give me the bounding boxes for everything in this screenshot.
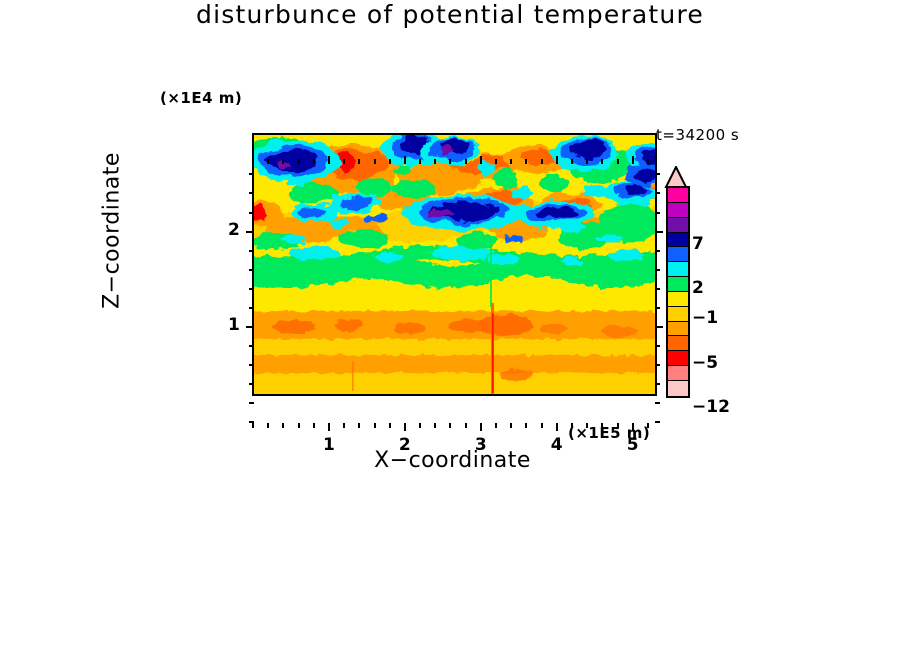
y-minor-tick: [249, 307, 254, 309]
y-minor-tick-right: [655, 269, 660, 271]
x-major-tick-top: [632, 156, 634, 164]
y-minor-tick: [249, 345, 254, 347]
y-minor-tick-right: [655, 192, 660, 194]
x-major-tick: [328, 423, 330, 431]
y-minor-tick: [249, 421, 254, 423]
x-minor-tick: [465, 423, 467, 428]
x-minor-tick-top: [389, 159, 391, 164]
x-major-tick-top: [404, 156, 406, 164]
colorbar-band-light-pink: [668, 381, 688, 396]
x-minor-tick-top: [252, 159, 254, 164]
colorbar-band-salmon: [668, 366, 688, 381]
y-minor-tick: [249, 364, 254, 366]
x-minor-tick: [541, 423, 543, 428]
y-major-tick-right: [655, 326, 663, 328]
y-minor-tick-right: [655, 345, 660, 347]
x-minor-tick-top: [267, 159, 269, 164]
y-minor-tick: [249, 173, 254, 175]
x-minor-tick-top: [449, 159, 451, 164]
x-minor-tick-top: [313, 159, 315, 164]
x-minor-tick-top: [358, 159, 360, 164]
y-minor-tick-right: [655, 307, 660, 309]
x-minor-tick: [267, 423, 269, 428]
y-minor-tick-right: [655, 402, 660, 404]
x-minor-tick-top: [298, 159, 300, 164]
x-axis-unit-label: (×1E5 m): [568, 424, 650, 442]
x-minor-tick-top: [541, 159, 543, 164]
colorbar-band-purple: [668, 218, 688, 233]
colorbar-band-orange: [668, 322, 688, 337]
colorbar-label-7: 7: [692, 234, 704, 254]
x-minor-tick-top: [586, 159, 588, 164]
y-minor-tick-right: [655, 288, 660, 290]
y-major-tick: [246, 326, 254, 328]
colorbar-label-2: 2: [692, 278, 704, 298]
y-tick-label-1: 1: [228, 315, 240, 335]
colorbar-label--1: −1: [692, 308, 718, 328]
timestamp-label: t=34200 s: [656, 126, 739, 144]
x-minor-tick: [434, 423, 436, 428]
y-minor-tick: [249, 192, 254, 194]
y-minor-tick-right: [655, 421, 660, 423]
x-minor-tick: [389, 423, 391, 428]
x-minor-tick: [510, 423, 512, 428]
x-minor-tick-top: [374, 159, 376, 164]
contour-plot-area: [252, 133, 657, 396]
x-minor-tick-top: [419, 159, 421, 164]
x-major-tick-top: [556, 156, 558, 164]
x-minor-tick: [525, 423, 527, 428]
y-minor-tick-right: [655, 364, 660, 366]
y-minor-tick: [249, 250, 254, 252]
colorbar-band-cyan: [668, 262, 688, 277]
colorbar-band-green: [668, 277, 688, 292]
y-minor-tick: [249, 402, 254, 404]
chart-title: disturbunce of potential temperature: [0, 0, 904, 29]
x-major-tick-top: [480, 156, 482, 164]
colorbar-label--5: −5: [692, 353, 718, 373]
y-minor-tick: [249, 269, 254, 271]
x-minor-tick: [343, 423, 345, 428]
colorbar-label--12: −12: [692, 397, 730, 417]
x-minor-tick-top: [282, 159, 284, 164]
x-major-tick: [480, 423, 482, 431]
x-minor-tick-top: [601, 159, 603, 164]
colorbar-band-magenta-purple: [668, 203, 688, 218]
x-major-tick: [556, 423, 558, 431]
contour-field: [254, 135, 655, 394]
x-minor-tick: [419, 423, 421, 428]
y-major-tick: [246, 231, 254, 233]
y-axis-unit-label: (×1E4 m): [160, 89, 242, 107]
y-minor-tick-right: [655, 383, 660, 385]
x-minor-tick: [358, 423, 360, 428]
y-minor-tick: [249, 288, 254, 290]
colorbar-band-amber: [668, 307, 688, 322]
x-minor-tick-top: [571, 159, 573, 164]
x-minor-tick-top: [525, 159, 527, 164]
x-minor-tick-top: [617, 159, 619, 164]
y-minor-tick-right: [655, 173, 660, 175]
x-minor-tick: [298, 423, 300, 428]
x-minor-tick-top: [434, 159, 436, 164]
colorbar-arrow-icon: [664, 166, 688, 188]
x-minor-tick: [252, 423, 254, 428]
x-minor-tick-top: [343, 159, 345, 164]
x-minor-tick: [282, 423, 284, 428]
y-axis-title: Z−coordinate: [100, 111, 125, 351]
y-tick-label-2: 2: [228, 220, 240, 240]
y-minor-tick: [249, 212, 254, 214]
colorbar-band-blue: [668, 247, 688, 262]
x-axis-title: X−coordinate: [252, 448, 653, 473]
x-major-tick-top: [328, 156, 330, 164]
x-minor-tick: [495, 423, 497, 428]
colorbar-band-red: [668, 351, 688, 366]
colorbar-band-orange-red: [668, 336, 688, 351]
x-minor-tick: [313, 423, 315, 428]
x-minor-tick-top: [510, 159, 512, 164]
y-minor-tick-right: [655, 212, 660, 214]
y-minor-tick: [249, 383, 254, 385]
x-minor-tick: [449, 423, 451, 428]
y-minor-tick-right: [655, 250, 660, 252]
chart-title-text: disturbunce of potential temperature: [196, 0, 704, 29]
x-minor-tick: [374, 423, 376, 428]
colorbar-band-magenta: [668, 188, 688, 203]
colorbar[interactable]: [666, 186, 690, 398]
x-minor-tick-top: [465, 159, 467, 164]
x-minor-tick-top: [495, 159, 497, 164]
colorbar-band-navy: [668, 233, 688, 248]
x-minor-tick-top: [647, 159, 649, 164]
y-major-tick-right: [655, 231, 663, 233]
x-major-tick: [404, 423, 406, 431]
colorbar-band-yellow: [668, 292, 688, 307]
